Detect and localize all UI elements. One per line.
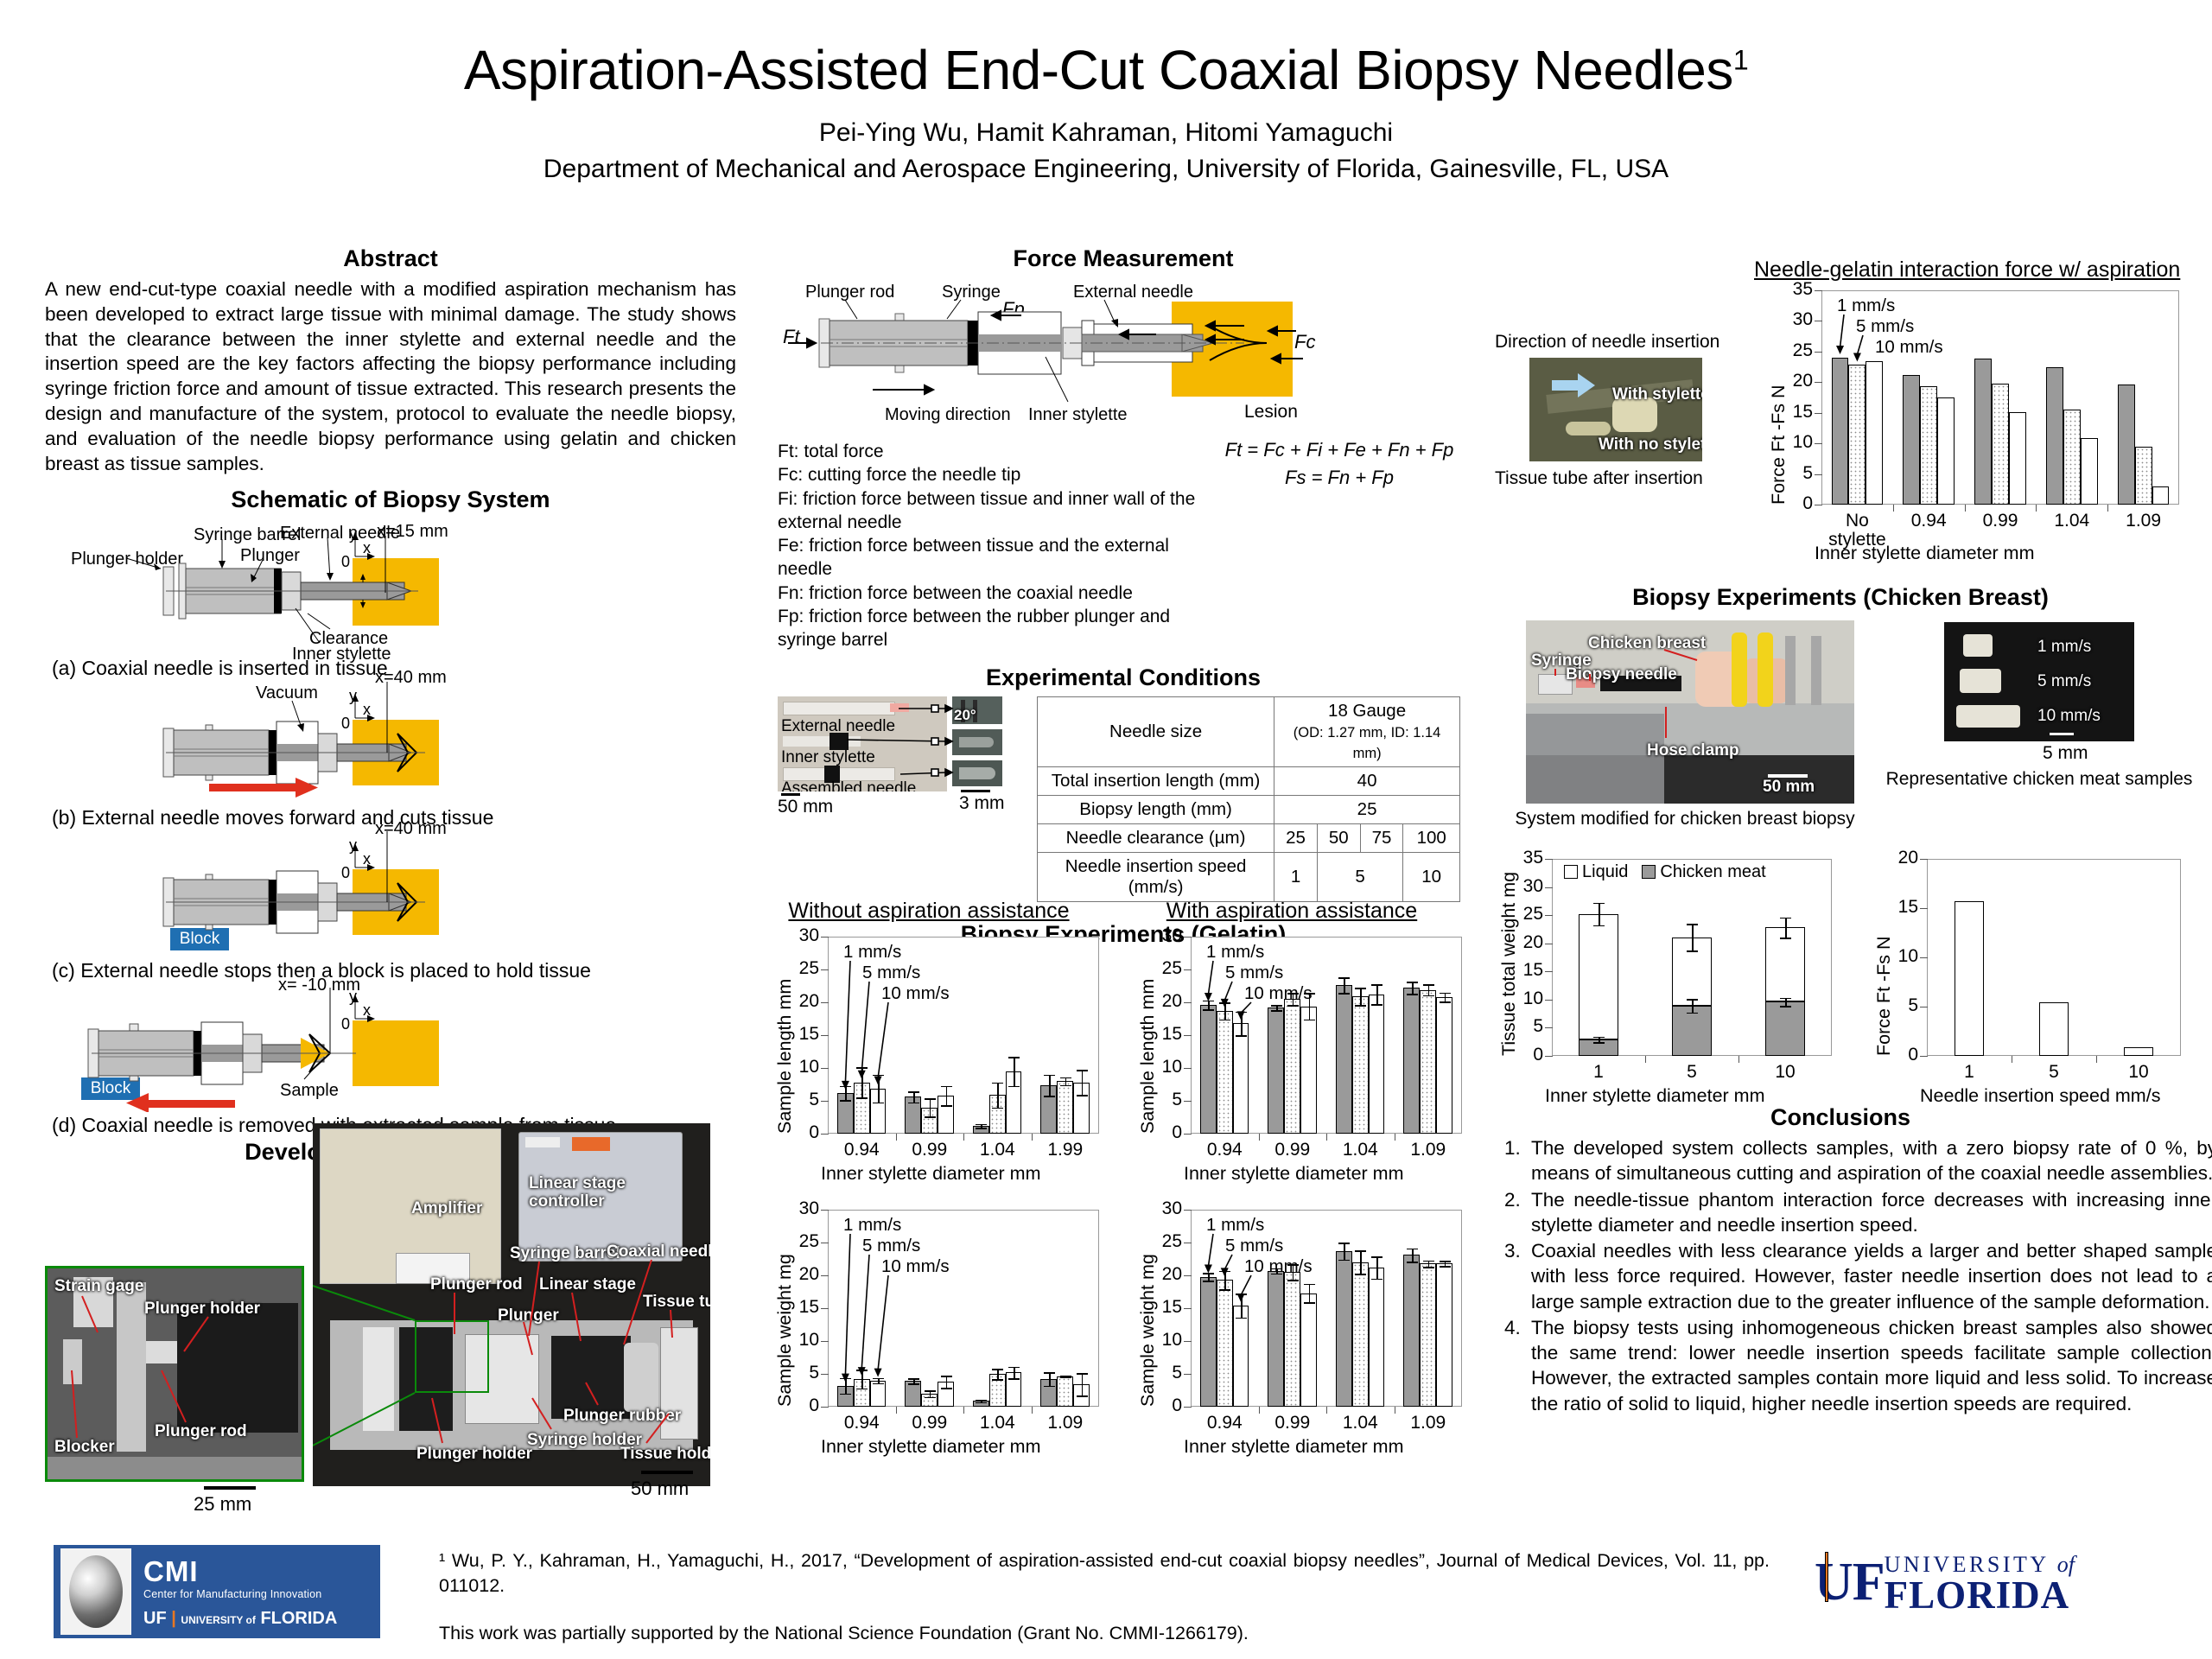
error-bar-cap bbox=[1593, 903, 1605, 905]
y-axis-tick-label: 25 bbox=[774, 1231, 819, 1252]
globe-icon bbox=[60, 1548, 131, 1635]
schematic-d-svg bbox=[45, 984, 736, 1112]
cell-speed-label: Needle insertion speed (mm/s) bbox=[1038, 852, 1274, 901]
y-axis-label: Tissue total weight mg bbox=[1498, 872, 1520, 1056]
y-axis-tick bbox=[1184, 1243, 1192, 1243]
label-with-stylette: With stylette bbox=[1612, 385, 1702, 404]
y-axis-tick bbox=[1545, 859, 1553, 860]
main-scale-bar bbox=[641, 1471, 693, 1474]
error-bar-cap bbox=[840, 1378, 851, 1380]
annotation-1: 1 mm/s bbox=[1837, 296, 1895, 316]
annotation-3: 10 mm/s bbox=[1244, 1256, 1313, 1277]
error-bar-cap bbox=[1271, 1005, 1282, 1007]
error-bar-cap bbox=[1407, 982, 1418, 983]
needle-size-main: 18 Gauge bbox=[1328, 701, 1406, 721]
force-measurement-heading: Force Measurement bbox=[778, 245, 1469, 272]
error-bar bbox=[1376, 984, 1378, 1004]
error-bar bbox=[1014, 1057, 1015, 1085]
error-bar-cap bbox=[1440, 1001, 1451, 1003]
chart-gelatin-weight-without: 0510152025300.940.991.041.09Sample weigh… bbox=[760, 1201, 1106, 1460]
error-bar-cap bbox=[1008, 1057, 1020, 1058]
y-axis-tick bbox=[1545, 1056, 1553, 1057]
chart-gelatin-length-with: 0510152025300.940.991.041.09Sample lengt… bbox=[1123, 928, 1469, 1187]
error-bar-cap bbox=[1780, 938, 1791, 939]
cell-speed-0: 1 bbox=[1274, 852, 1318, 901]
x-axis-tick bbox=[1326, 1407, 1327, 1414]
uf-logo: UF UNIVERSITY of FLORIDA bbox=[1815, 1552, 2075, 1618]
error-bar bbox=[1692, 924, 1694, 950]
error-bar-cap bbox=[856, 1389, 868, 1390]
label-sample-speed-1: 5 mm/s bbox=[2037, 672, 2091, 691]
bar-2 bbox=[2063, 410, 2081, 505]
error-bar-cap bbox=[1593, 925, 1605, 927]
bar-2 bbox=[1992, 384, 2009, 505]
error-bar-cap bbox=[1219, 1002, 1230, 1004]
error-bar-cap bbox=[1287, 1005, 1299, 1007]
gelatin-sub-without: Without aspiration assistance bbox=[760, 899, 1097, 924]
bar-1 bbox=[1974, 359, 1992, 505]
y-axis-tick bbox=[1545, 1000, 1553, 1001]
y-axis-tick bbox=[1184, 1374, 1192, 1375]
y-axis-tick bbox=[821, 1407, 829, 1408]
error-bar-cap bbox=[1338, 1243, 1350, 1244]
error-bar-cap bbox=[1440, 1261, 1451, 1262]
cmi-abbr: CMI bbox=[143, 1555, 337, 1588]
error-bar bbox=[845, 1378, 847, 1394]
y-axis-tick-label: 30 bbox=[1137, 1198, 1182, 1219]
left-column: Abstract A new end-cut-type coaxial need… bbox=[45, 245, 736, 1171]
error-bar-cap bbox=[1407, 994, 1418, 995]
error-bar-cap bbox=[908, 1378, 919, 1380]
y-axis-tick bbox=[1815, 321, 1822, 321]
error-bar bbox=[1360, 988, 1362, 1005]
error-bar-cap bbox=[1287, 1280, 1299, 1281]
y-axis-tick bbox=[821, 1101, 829, 1102]
error-bar-cap bbox=[941, 1388, 952, 1389]
annotation-1: 1 mm/s bbox=[1206, 1215, 1264, 1236]
error-bar bbox=[946, 1376, 948, 1388]
error-bar-cap bbox=[1687, 924, 1698, 925]
y-axis-tick bbox=[821, 1068, 829, 1069]
annotation-3: 10 mm/s bbox=[1244, 983, 1313, 1004]
error-bar-cap bbox=[873, 1103, 884, 1104]
error-bar bbox=[1241, 1294, 1243, 1317]
needle-size-sub: (OD: 1.27 mm, ID: 1.14 mm) bbox=[1294, 725, 1441, 761]
error-bar-cap bbox=[1077, 1070, 1088, 1071]
error-bar-cap bbox=[1407, 1262, 1418, 1263]
force-def-2: Fi: friction force between tissue and in… bbox=[778, 487, 1205, 535]
bar-3 bbox=[1436, 1263, 1452, 1407]
y-axis-tick-label: 35 bbox=[1498, 848, 1543, 868]
force-eq-0: Ft = Fc + Fi + Fe + Fn + Fp bbox=[1210, 436, 1469, 464]
y-axis-tick bbox=[1815, 382, 1822, 383]
error-bar-cap bbox=[1355, 988, 1366, 989]
inset-scale-label: 25 mm bbox=[194, 1493, 251, 1516]
error-bar-cap bbox=[1236, 1012, 1247, 1014]
cell-clearance-3: 100 bbox=[1403, 823, 1460, 852]
list-item: The needle-tissue phantom interaction fo… bbox=[1526, 1187, 2212, 1238]
error-bar-cap bbox=[840, 1086, 851, 1088]
bar-2 bbox=[1848, 365, 1866, 505]
chicken-caption-right: Representative chicken meat samples bbox=[1884, 769, 2195, 790]
stacked-bar-liquid bbox=[1579, 914, 1618, 1039]
annotation-2: 5 mm/s bbox=[1856, 316, 1914, 337]
x-axis-tick bbox=[1395, 1134, 1395, 1141]
developed-system-figure: Amplifier Linear stage controller Syring… bbox=[45, 1123, 736, 1529]
error-bar-cap bbox=[925, 1390, 936, 1392]
y-axis-tick bbox=[1184, 1341, 1192, 1342]
bar-3 bbox=[1300, 1007, 1317, 1134]
annotation-1: 1 mm/s bbox=[843, 942, 901, 963]
annotation-1: 1 mm/s bbox=[1206, 942, 1264, 963]
chicken-samples-photo: 1 mm/s 5 mm/s 10 mm/s bbox=[1944, 622, 2134, 741]
error-bar bbox=[1309, 1284, 1311, 1302]
cell-needle-size-label: Needle size bbox=[1038, 696, 1274, 766]
schematic-b-svg bbox=[45, 682, 736, 804]
x-axis-tick bbox=[1259, 1134, 1260, 1141]
y-axis-tick bbox=[821, 1035, 829, 1036]
bar-2 bbox=[1420, 990, 1436, 1134]
label-sample-speed-0: 1 mm/s bbox=[2037, 638, 2091, 657]
error-bar bbox=[1049, 1372, 1051, 1385]
table-row: Needle insertion speed (mm/s) 1 5 10 bbox=[1038, 852, 1460, 901]
error-bar-cap bbox=[1060, 1377, 1071, 1379]
y-axis-tick bbox=[1920, 957, 1928, 958]
x-axis-tick bbox=[1032, 1407, 1033, 1414]
chart-gelatin-weight-with: 0510152025300.940.991.041.09Sample weigh… bbox=[1123, 1201, 1469, 1460]
x-axis-tick-label: 1.09 bbox=[1376, 1141, 1480, 1160]
x-axis-tick bbox=[1965, 505, 1966, 512]
list-item: The developed system collects samples, w… bbox=[1526, 1135, 2212, 1186]
bar-2 bbox=[1352, 996, 1369, 1134]
bar-3 bbox=[1233, 1023, 1249, 1134]
error-bar-cap bbox=[1423, 984, 1434, 986]
force-measurement-diagram: Plunger rod Syringe External needle Movi… bbox=[778, 277, 1469, 433]
error-bar-cap bbox=[1044, 1372, 1055, 1374]
error-bar-cap bbox=[1219, 1271, 1230, 1273]
y-axis-tick bbox=[1545, 887, 1553, 888]
y-axis-tick bbox=[1815, 505, 1822, 505]
force-definitions-block: Ft: total force Fc: cutting force the ne… bbox=[778, 435, 1469, 652]
needle-photos: External needle Inner stylette Assembled… bbox=[778, 696, 1028, 800]
error-bar bbox=[997, 1369, 999, 1379]
error-bar-cap bbox=[1060, 1077, 1071, 1079]
error-bar bbox=[1692, 999, 1694, 1013]
y-axis-tick bbox=[821, 1341, 829, 1342]
x-axis-tick bbox=[896, 1134, 897, 1141]
x-axis-tick-label: 10 bbox=[2087, 1063, 2190, 1082]
y-axis-tick-label: 25 bbox=[1137, 1231, 1182, 1252]
y-axis-tick bbox=[1184, 1407, 1192, 1408]
y-axis-tick bbox=[1184, 1068, 1192, 1069]
error-bar-cap bbox=[1219, 1289, 1230, 1291]
annotation-3: 10 mm/s bbox=[1875, 337, 1943, 358]
error-bar bbox=[1241, 1012, 1243, 1035]
bar-3 bbox=[1937, 397, 1955, 505]
y-axis-tick bbox=[1920, 1007, 1928, 1007]
x-axis-tick-label: 1.09 bbox=[1376, 1414, 1480, 1433]
uf-wordmark: UNIVERSITY of FLORIDA bbox=[1885, 1552, 2075, 1618]
chicken-photo-leaders bbox=[1526, 620, 1854, 804]
cell-clearance-0: 25 bbox=[1274, 823, 1318, 852]
error-bar-cap bbox=[1060, 1085, 1071, 1087]
force-def-0: Ft: total force bbox=[778, 440, 1205, 463]
y-axis-tick bbox=[821, 1134, 829, 1135]
error-bar-cap bbox=[1407, 1249, 1418, 1250]
chicken-figures: Syringe Chicken breast Biopsy needle Hos… bbox=[1495, 613, 2195, 838]
error-bar-cap bbox=[1371, 984, 1382, 986]
y-axis-tick-label: 30 bbox=[774, 925, 819, 946]
x-axis-tick bbox=[963, 1134, 964, 1141]
tissue-tube-figure: Direction of needle insertion With style… bbox=[1495, 332, 1745, 496]
y-axis-tick bbox=[821, 1243, 829, 1243]
error-bar-cap bbox=[1423, 995, 1434, 997]
bar-3 bbox=[1233, 1306, 1249, 1407]
error-bar bbox=[930, 1098, 931, 1116]
error-bar bbox=[1014, 1367, 1015, 1379]
error-bar-cap bbox=[1687, 999, 1698, 1001]
error-bar bbox=[861, 1370, 863, 1388]
bar-3 bbox=[1300, 1294, 1317, 1407]
page-title: Aspiration-Assisted End-Cut Coaxial Biop… bbox=[0, 0, 2212, 99]
y-axis-tick bbox=[1815, 413, 1822, 414]
annotation-3: 10 mm/s bbox=[881, 983, 950, 1004]
bar-3 bbox=[1866, 361, 1883, 505]
error-bar-cap bbox=[1355, 1274, 1366, 1275]
y-axis-tick bbox=[821, 1374, 829, 1375]
bar-1 bbox=[1403, 1255, 1420, 1407]
title-text: Aspiration-Assisted End-Cut Coaxial Biop… bbox=[464, 39, 1733, 101]
chart-chicken-force: 051015201510Force Ft -Fs NNeedle inserti… bbox=[1859, 850, 2188, 1109]
error-bar-cap bbox=[1219, 1020, 1230, 1021]
force-eq-1: Fs = Fn + Fp bbox=[1210, 464, 1469, 492]
y-axis-tick bbox=[821, 1308, 829, 1309]
error-bar-cap bbox=[992, 1379, 1003, 1381]
cell-speed-2: 10 bbox=[1403, 852, 1460, 901]
force-measurement-svg bbox=[778, 277, 1469, 433]
error-bar-cap bbox=[976, 1400, 987, 1402]
error-bar-cap bbox=[1304, 1284, 1315, 1286]
error-bar-cap bbox=[1371, 1004, 1382, 1006]
x-axis-label: Inner stylette diameter mm bbox=[1184, 1163, 1404, 1185]
error-bar-cap bbox=[840, 1100, 851, 1102]
y-axis-tick bbox=[821, 937, 829, 938]
error-bar-cap bbox=[925, 1116, 936, 1118]
system-main-photo: Amplifier Linear stage controller Syring… bbox=[313, 1123, 710, 1486]
y-axis-tick bbox=[1920, 859, 1928, 860]
cmi-uf-univ: UNIVERSITY of bbox=[181, 1614, 255, 1626]
bar-1 bbox=[1336, 985, 1352, 1134]
bar-1 bbox=[1403, 988, 1420, 1134]
error-bar bbox=[997, 1083, 999, 1108]
error-bar-cap bbox=[1304, 1302, 1315, 1304]
y-axis-label: Sample length mm bbox=[1137, 979, 1159, 1134]
bar-2 bbox=[2135, 447, 2152, 505]
y-axis-tick bbox=[1545, 915, 1553, 916]
y-axis-tick bbox=[1815, 290, 1822, 291]
error-bar-cap bbox=[1236, 1294, 1247, 1295]
error-bar-cap bbox=[908, 1091, 919, 1093]
stacked-bar-meat bbox=[1765, 1001, 1804, 1056]
y-axis-tick-label: 25 bbox=[1137, 958, 1182, 979]
cmi-text: CMI Center for Manufacturing Innovation … bbox=[143, 1555, 337, 1629]
error-bar bbox=[946, 1086, 948, 1106]
error-bar-cap bbox=[1593, 1042, 1605, 1044]
error-bar bbox=[1082, 1373, 1084, 1395]
cmi-uf-lockup: UF | UNIVERSITY of FLORIDA bbox=[143, 1609, 337, 1629]
x-axis-tick bbox=[1645, 1056, 1646, 1063]
legend-item-meat: Chicken meat bbox=[1642, 862, 1765, 882]
bar-2 bbox=[1352, 1262, 1369, 1407]
bar-1 bbox=[2118, 385, 2135, 505]
error-bar-cap bbox=[1338, 993, 1350, 995]
x-axis-tick-label: 1.99 bbox=[1014, 1141, 1117, 1160]
y-axis-tick bbox=[1184, 1134, 1192, 1135]
samples-scale-label: 5 mm bbox=[2043, 743, 2088, 764]
error-bar-cap bbox=[1780, 998, 1791, 1000]
nsf-acknowledgment: This work was partially supported by the… bbox=[439, 1621, 1770, 1646]
error-bar bbox=[861, 1067, 863, 1097]
annotation-3: 10 mm/s bbox=[881, 1256, 950, 1277]
samples-scale-bar bbox=[2050, 733, 2074, 735]
chicken-caption-left: System modified for chicken breast biops… bbox=[1495, 809, 1875, 829]
y-axis-tick bbox=[1815, 474, 1822, 475]
y-axis-label: Force Ft -Fs N bbox=[1873, 936, 1895, 1056]
error-bar-cap bbox=[1271, 1010, 1282, 1012]
x-axis-tick-label: 1.09 bbox=[1014, 1414, 1117, 1433]
error-bar-cap bbox=[873, 1075, 884, 1077]
affiliation: Department of Mechanical and Aerospace E… bbox=[0, 155, 2212, 184]
bar-1 bbox=[1200, 1005, 1217, 1134]
y-axis-tick bbox=[1545, 944, 1553, 944]
bar-1 bbox=[2046, 367, 2063, 505]
bar-3 bbox=[1436, 997, 1452, 1134]
error-bar-cap bbox=[941, 1376, 952, 1377]
bar-single bbox=[2039, 1002, 2068, 1056]
error-bar-cap bbox=[908, 1103, 919, 1104]
schematic-heading: Schematic of Biopsy System bbox=[45, 486, 736, 513]
list-item: The biopsy tests using inhomogeneous chi… bbox=[1526, 1315, 2212, 1416]
error-bar bbox=[1344, 1243, 1345, 1260]
error-bar-cap bbox=[1008, 1086, 1020, 1088]
error-bar-cap bbox=[856, 1097, 868, 1099]
y-axis-tick bbox=[1184, 937, 1192, 938]
force-def-4: Fn: friction force between the coaxial n… bbox=[778, 582, 1205, 605]
x-axis-tick bbox=[1032, 1134, 1033, 1141]
error-bar bbox=[1224, 1271, 1226, 1289]
error-bar-cap bbox=[873, 1383, 884, 1385]
y-axis-tick bbox=[1545, 1027, 1553, 1028]
error-bar-cap bbox=[1423, 1261, 1434, 1262]
cmi-uf-abbr: UF bbox=[143, 1609, 167, 1628]
y-axis-tick bbox=[1815, 352, 1822, 353]
abstract-heading: Abstract bbox=[45, 245, 736, 272]
schematic-c-svg bbox=[45, 831, 736, 957]
error-bar-cap bbox=[908, 1383, 919, 1385]
error-bar-cap bbox=[1780, 1006, 1791, 1007]
system-inset-leaders bbox=[48, 1268, 304, 1482]
footer: CMI Center for Manufacturing Innovation … bbox=[0, 1536, 2212, 1659]
error-bar-cap bbox=[1203, 1001, 1214, 1002]
error-bar-cap bbox=[1355, 1005, 1366, 1007]
bar-1 bbox=[1268, 1007, 1284, 1134]
error-bar-cap bbox=[1044, 1386, 1055, 1388]
cell-biopsy-length-value: 25 bbox=[1274, 795, 1460, 823]
bar-1 bbox=[1832, 358, 1849, 505]
tissue-tube-caption: Tissue tube after insertion bbox=[1495, 468, 1703, 489]
bar-2 bbox=[1217, 1011, 1233, 1134]
uf-florida: FLORIDA bbox=[1885, 1573, 2075, 1618]
schematic-step-d: x= -10 mm y x 0 Lesion Sample Block bbox=[45, 984, 736, 1112]
cell-biopsy-length-label: Biopsy length (mm) bbox=[1038, 795, 1274, 823]
bar-3 bbox=[1369, 1268, 1385, 1407]
chart-legend: LiquidChicken meat bbox=[1564, 862, 1766, 882]
force-definitions-list: Ft: total force Fc: cutting force the ne… bbox=[778, 440, 1205, 652]
bar-2 bbox=[1217, 1280, 1233, 1407]
error-bar-cap bbox=[1423, 1267, 1434, 1268]
error-bar-cap bbox=[1044, 1075, 1055, 1077]
uf-divider bbox=[1825, 1552, 1828, 1602]
error-bar-cap bbox=[1338, 977, 1350, 979]
y-axis-tick bbox=[1920, 908, 1928, 909]
label-insertion-direction: Direction of needle insertion bbox=[1495, 332, 1745, 353]
tissue-tube-photo: With stylette With no stylette bbox=[1529, 358, 1702, 461]
x-axis-tick-label: 1.09 bbox=[2092, 512, 2196, 531]
y-axis-tick bbox=[1184, 1002, 1192, 1003]
bar-2 bbox=[1920, 386, 1937, 505]
cell-clearance-2: 75 bbox=[1360, 823, 1403, 852]
error-bar bbox=[1208, 1001, 1210, 1010]
schematic-step-a: Plunger holder Syringe barrel Plunger Ex… bbox=[45, 518, 736, 655]
error-bar-cap bbox=[941, 1105, 952, 1107]
x-axis-tick bbox=[2096, 1056, 2097, 1063]
error-bar bbox=[1785, 918, 1787, 938]
insertion-arrow-icon bbox=[1552, 372, 1604, 401]
x-axis-tick bbox=[896, 1407, 897, 1414]
error-bar-cap bbox=[976, 1402, 987, 1404]
bar-1 bbox=[1200, 1277, 1217, 1407]
force-def-5: Fp: friction force between the rubber pl… bbox=[778, 605, 1205, 652]
bar-3 bbox=[2081, 438, 2098, 505]
reference-text: ¹ Wu, P. Y., Kahraman, H., Yamaguchi, H.… bbox=[439, 1548, 1770, 1599]
bar-3 bbox=[2009, 412, 2026, 505]
bar-1 bbox=[1268, 1271, 1284, 1407]
error-bar-cap bbox=[976, 1124, 987, 1126]
y-axis-tick bbox=[1815, 443, 1822, 444]
error-bar-cap bbox=[1077, 1395, 1088, 1397]
annotation-2: 5 mm/s bbox=[862, 1236, 920, 1256]
needle-photo-leaders bbox=[778, 696, 1028, 800]
x-axis-tick bbox=[963, 1407, 964, 1414]
abstract-text: A new end-cut-type coaxial needle with a… bbox=[45, 277, 736, 476]
error-bar bbox=[1376, 1256, 1378, 1279]
cmi-full: Center for Manufacturing Innovation bbox=[143, 1588, 337, 1600]
y-axis-tick bbox=[1184, 1275, 1192, 1276]
y-axis-label: Force Ft -Fs N bbox=[1768, 385, 1789, 505]
error-bar-cap bbox=[873, 1378, 884, 1380]
error-bar bbox=[1412, 1249, 1414, 1262]
y-axis-tick-label: 35 bbox=[1768, 279, 1813, 300]
poster-root: Aspiration-Assisted End-Cut Coaxial Biop… bbox=[0, 0, 2212, 1659]
cmi-uf-fl: FLORIDA bbox=[260, 1609, 337, 1628]
x-axis-tick bbox=[1326, 1134, 1327, 1141]
error-bar-cap bbox=[992, 1108, 1003, 1109]
table-row: Needle size 18 Gauge (OD: 1.27 mm, ID: 1… bbox=[1038, 696, 1460, 766]
error-bar-cap bbox=[992, 1083, 1003, 1084]
error-bar-cap bbox=[1077, 1095, 1088, 1096]
error-bar bbox=[1599, 903, 1600, 925]
cell-clearance-1: 50 bbox=[1317, 823, 1360, 852]
